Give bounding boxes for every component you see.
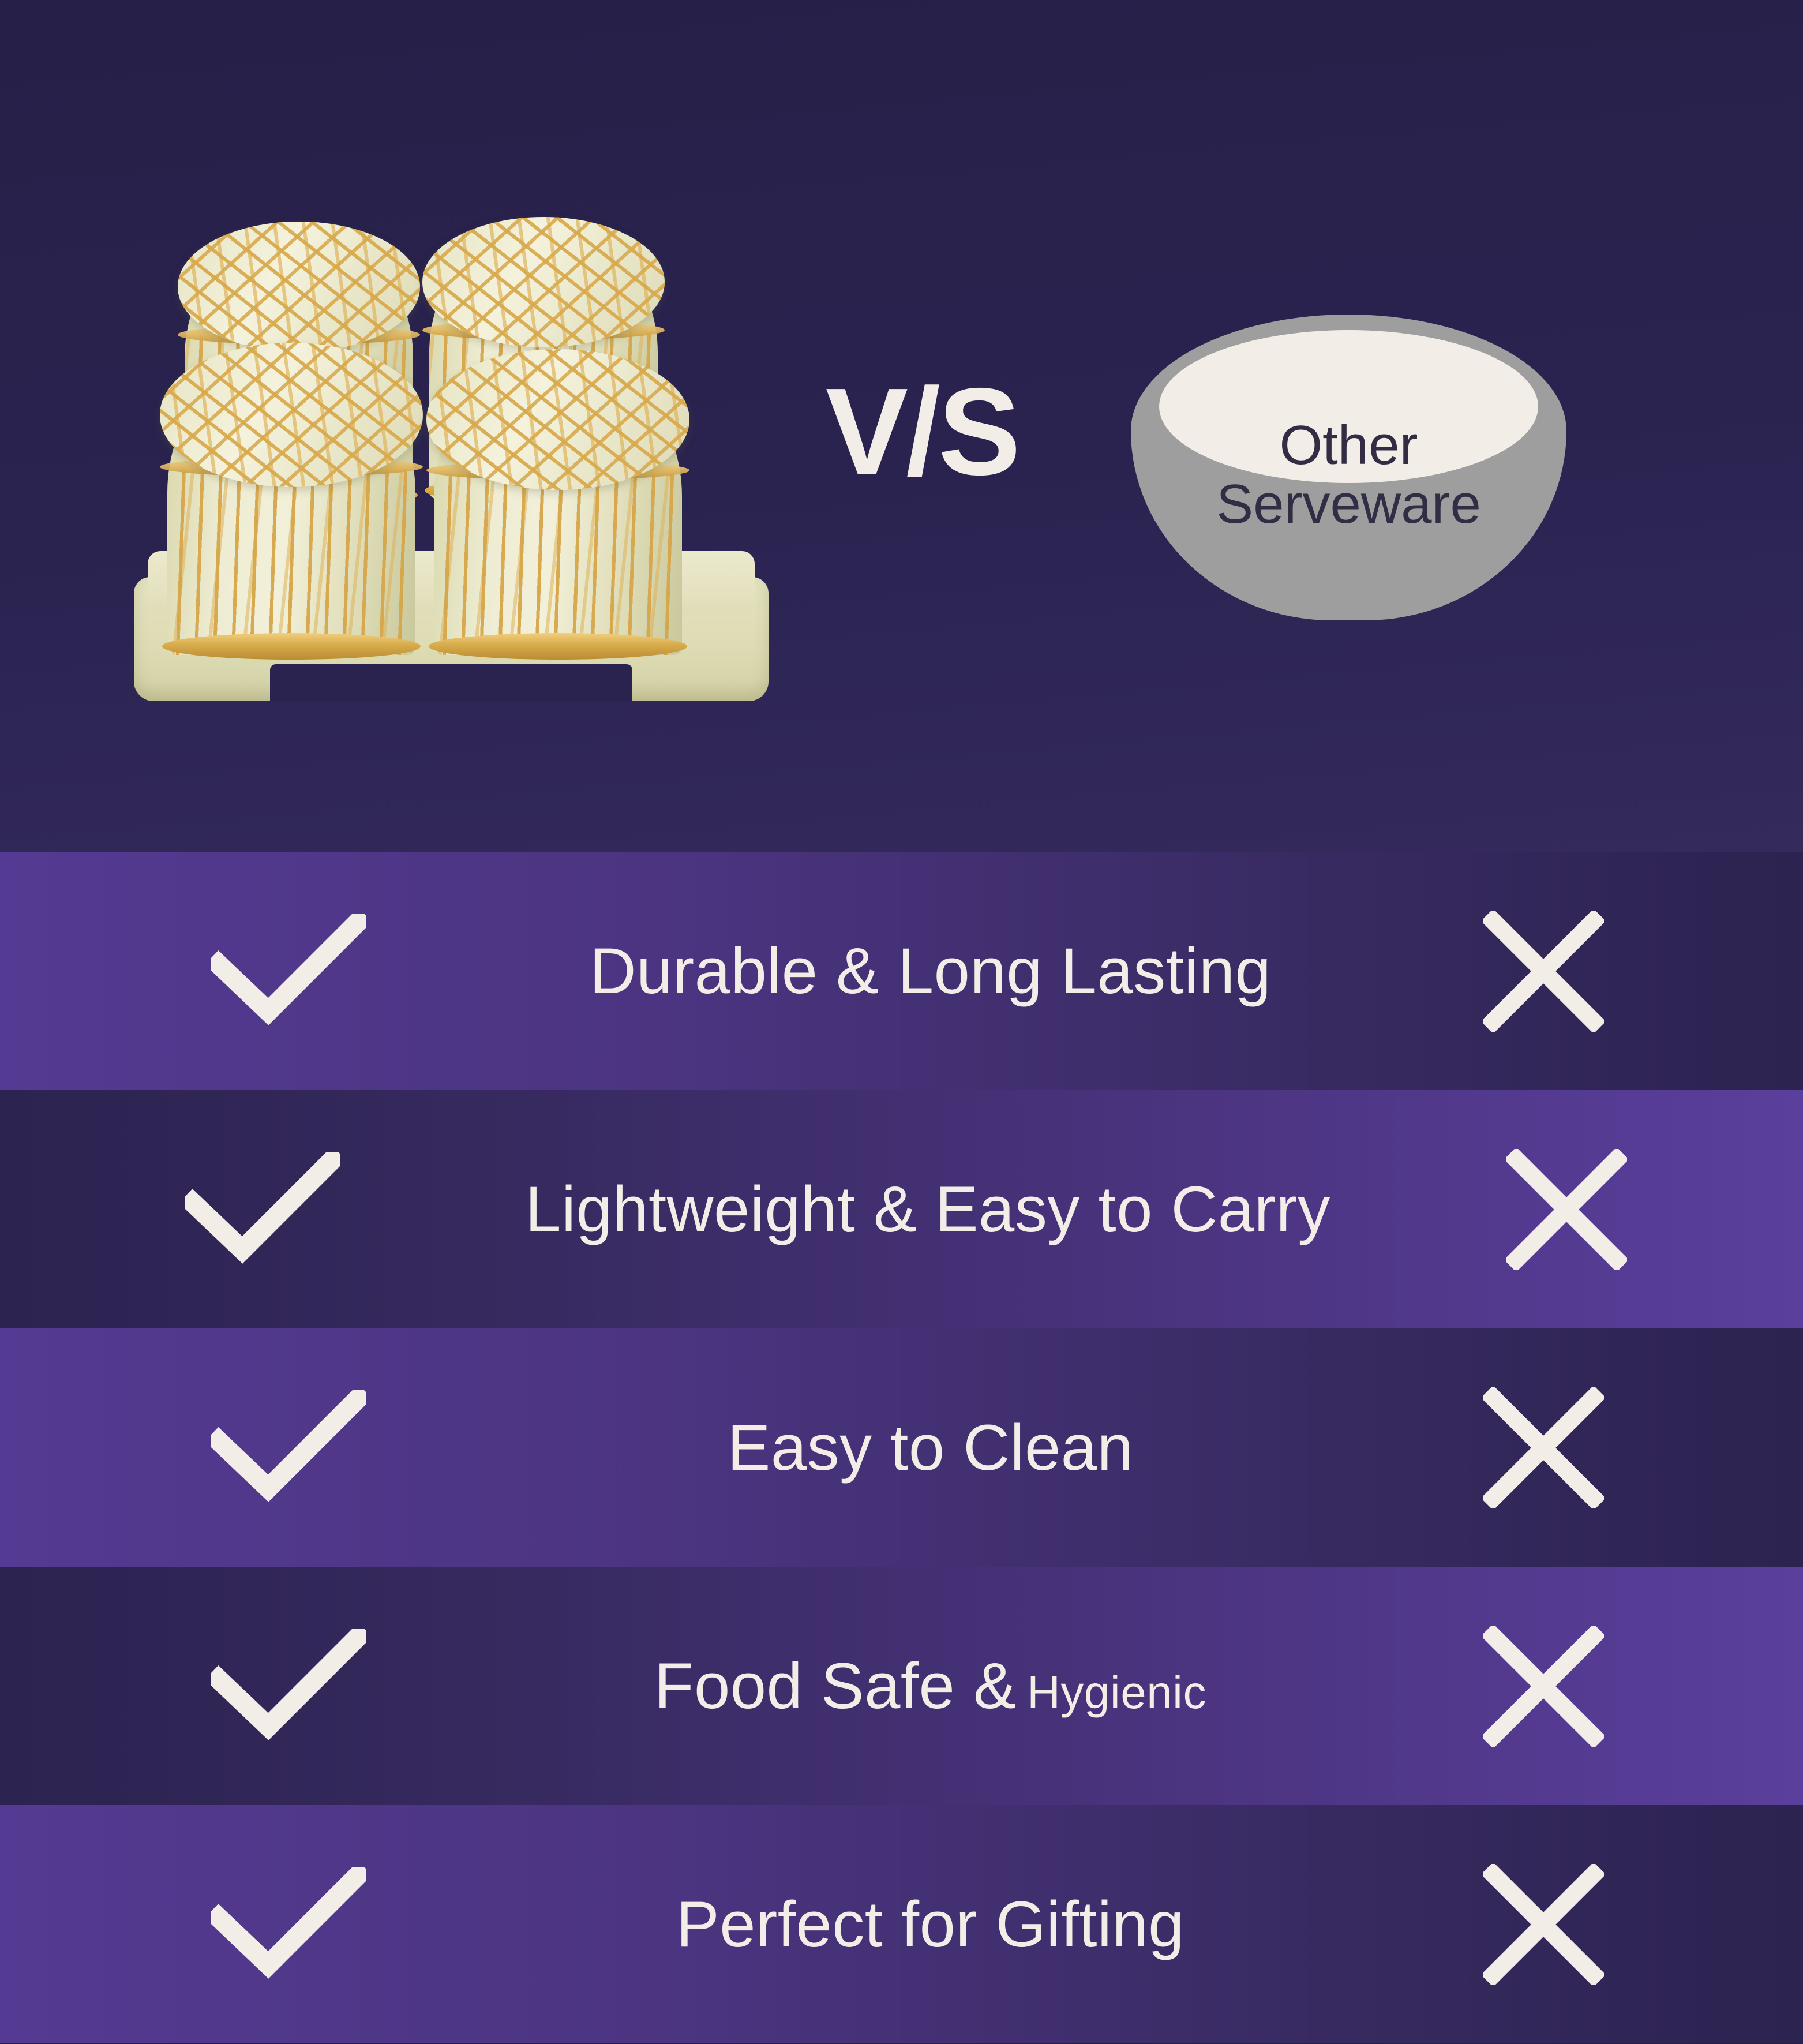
cross-icon bbox=[1284, 911, 1803, 1032]
hero-section: V/S Other Serveware bbox=[0, 0, 1803, 852]
feature-label-main: Perfect for Gifting bbox=[676, 1887, 1184, 1961]
feature-label-main: Easy to Clean bbox=[728, 1410, 1134, 1485]
product-tray-notch bbox=[270, 664, 632, 701]
competitor-label-line1: Other bbox=[1279, 416, 1418, 475]
cross-icon bbox=[1330, 1149, 1803, 1270]
feature-label: Perfect for Gifting bbox=[577, 1887, 1284, 1961]
feature-label-secondary: Hygienic bbox=[1027, 1666, 1206, 1719]
table-row: Perfect for Gifting bbox=[0, 1805, 1803, 2043]
feature-label: Easy to Clean bbox=[577, 1410, 1284, 1485]
table-row: Easy to Clean bbox=[0, 1328, 1803, 1567]
check-icon bbox=[0, 1152, 525, 1267]
table-row: Lightweight & Easy to Carry bbox=[0, 1090, 1803, 1328]
table-row: Durable & Long Lasting bbox=[0, 852, 1803, 1090]
versus-label: V/S bbox=[795, 369, 1049, 493]
check-icon bbox=[0, 1629, 577, 1744]
cross-icon bbox=[1284, 1387, 1803, 1508]
competitor-label: Other Serveware bbox=[1131, 315, 1566, 620]
comparison-infographic: V/S Other Serveware Durable & Long Lasti… bbox=[0, 0, 1803, 2044]
competitor-label-line2: Serveware bbox=[1216, 475, 1481, 534]
cross-icon bbox=[1284, 1864, 1803, 1985]
canister-bottom-right bbox=[434, 361, 682, 655]
check-icon bbox=[0, 1867, 577, 1982]
feature-label: Lightweight & Easy to Carry bbox=[525, 1172, 1330, 1246]
feature-label-main: Durable & Long Lasting bbox=[590, 934, 1272, 1008]
check-icon bbox=[0, 914, 577, 1029]
comparison-table: Durable & Long LastingLightweight & Easy… bbox=[0, 852, 1803, 2044]
table-row: Food Safe &Hygienic bbox=[0, 1567, 1803, 1805]
product-image bbox=[134, 216, 780, 701]
competitor-bowl-icon: Other Serveware bbox=[1131, 315, 1566, 620]
feature-label: Food Safe &Hygienic bbox=[577, 1649, 1284, 1723]
cross-icon bbox=[1284, 1626, 1803, 1747]
feature-label-main: Lightweight & Easy to Carry bbox=[525, 1172, 1330, 1246]
feature-label: Durable & Long Lasting bbox=[577, 934, 1284, 1008]
canister-bottom-left bbox=[167, 355, 415, 655]
feature-label-main: Food Safe & bbox=[654, 1649, 1017, 1723]
check-icon bbox=[0, 1390, 577, 1506]
